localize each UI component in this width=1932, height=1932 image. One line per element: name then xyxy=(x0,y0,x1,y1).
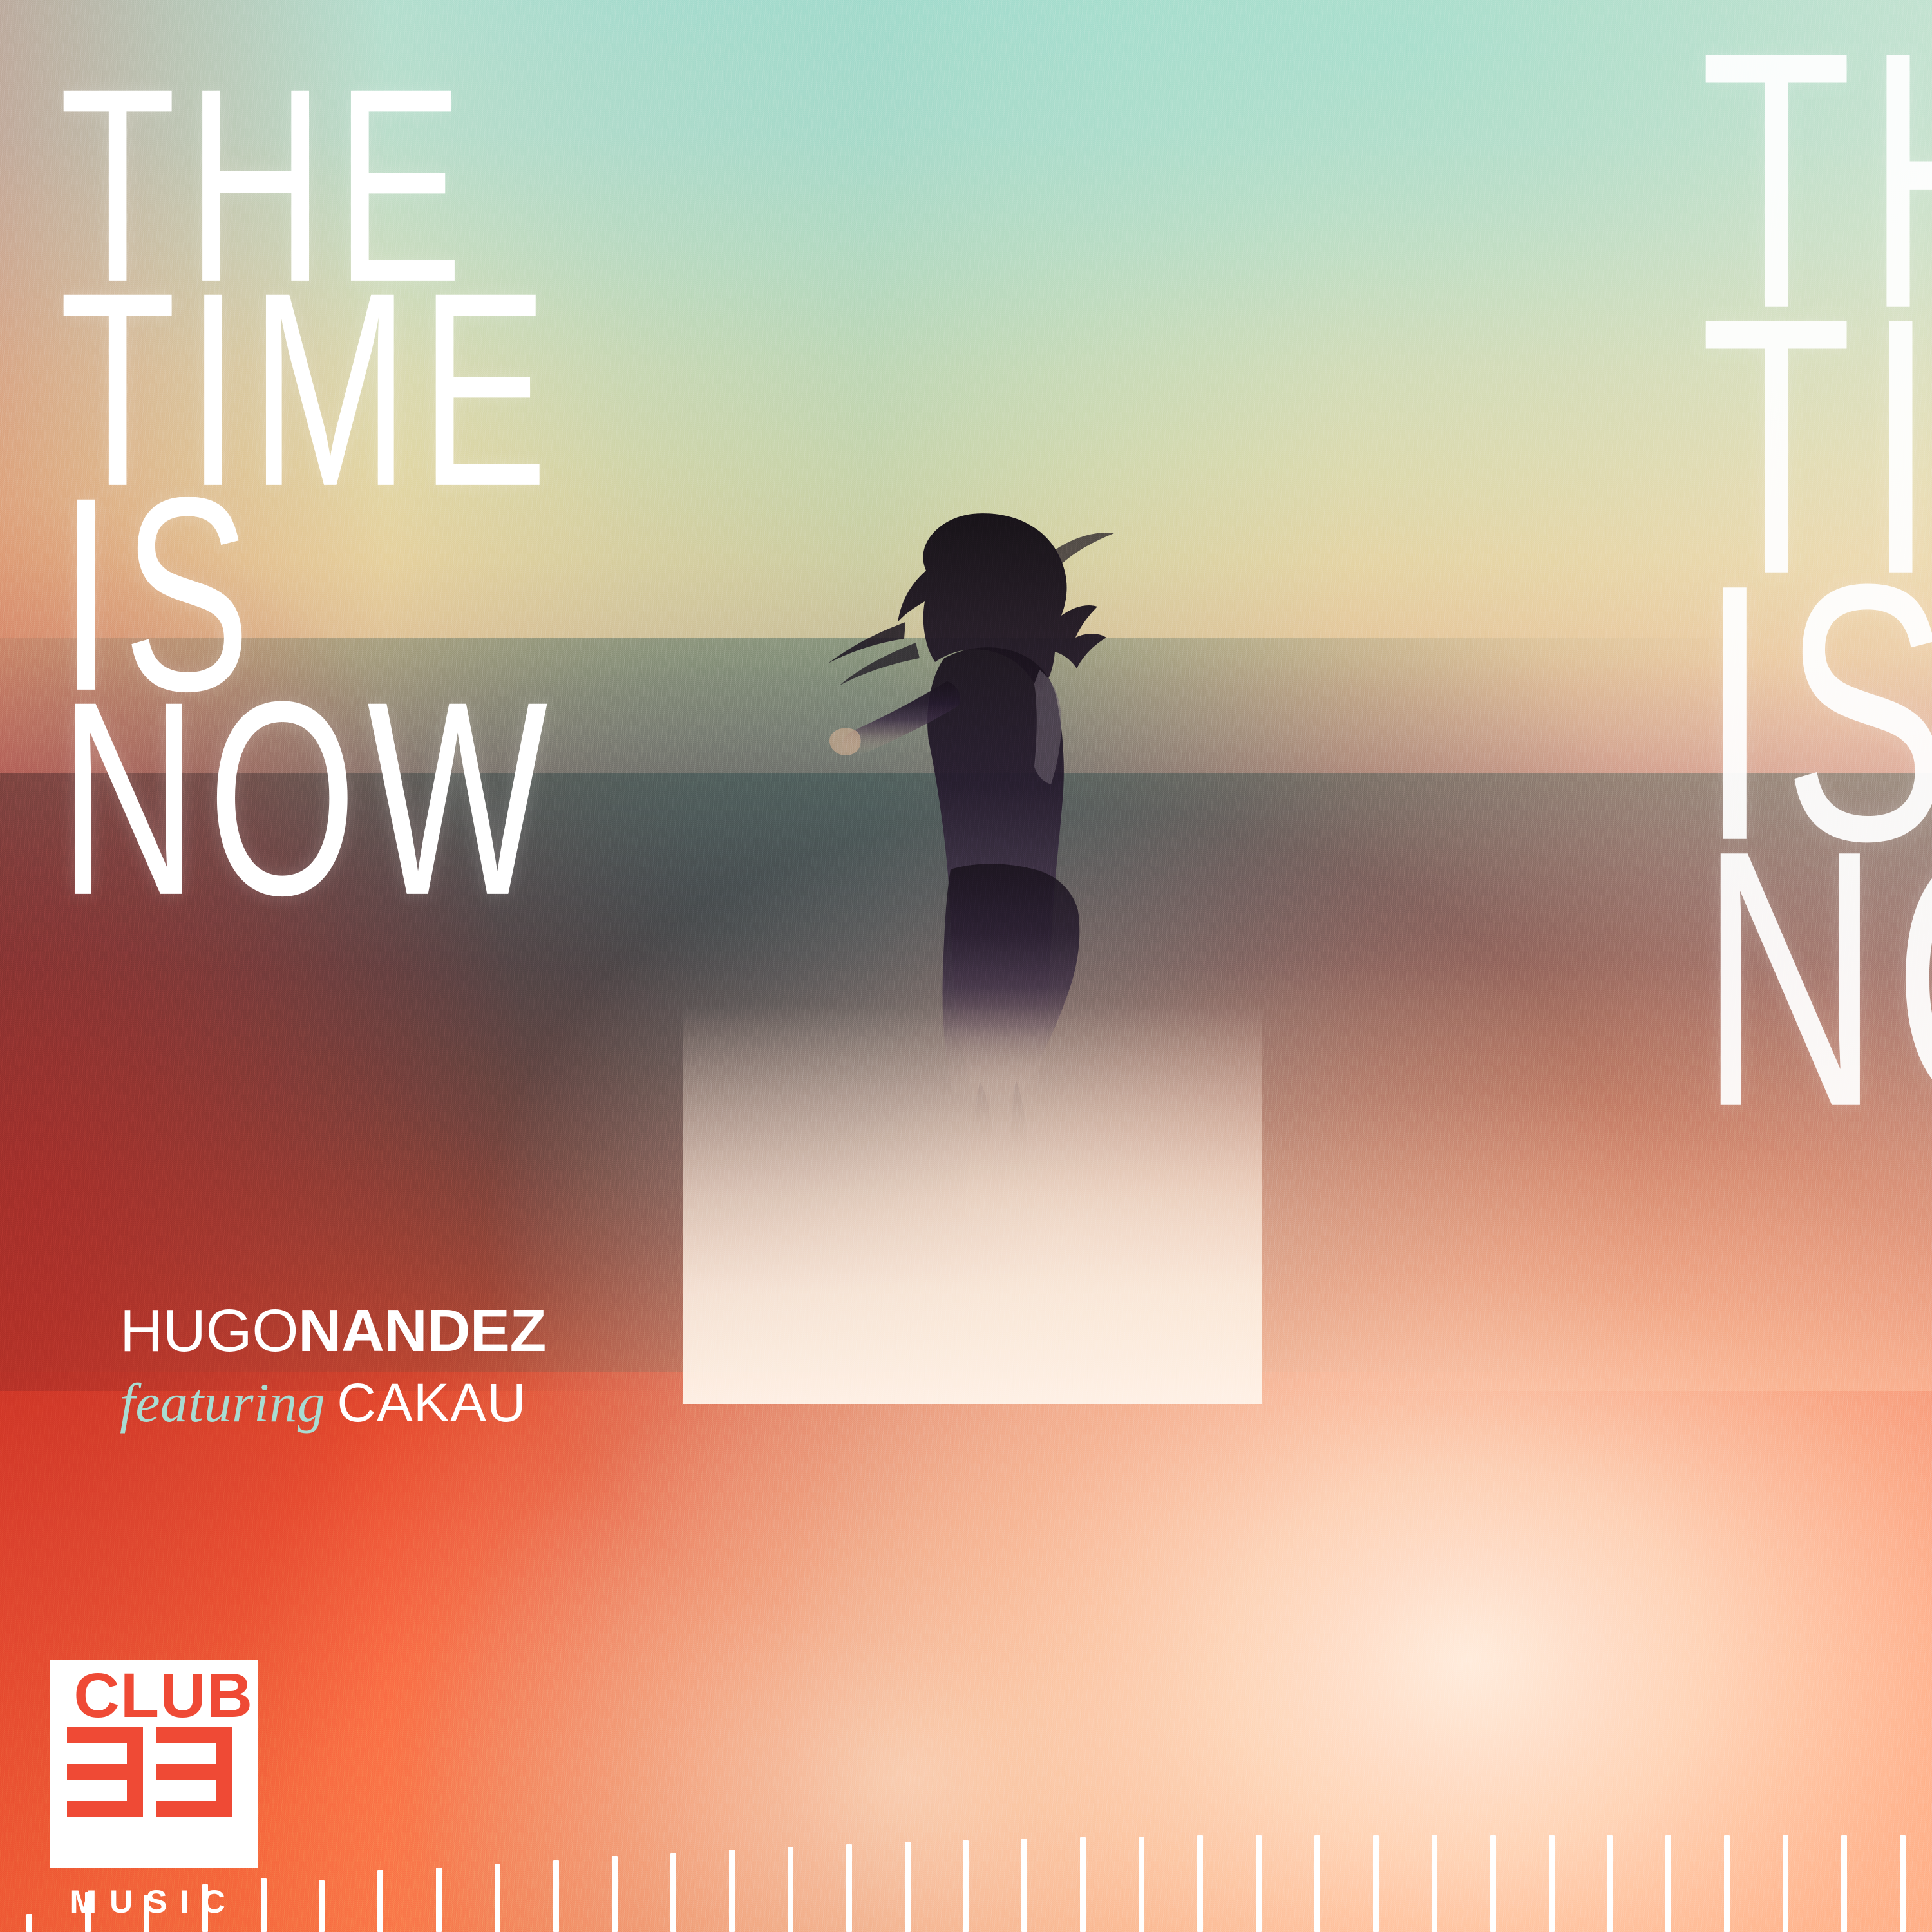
album-cover: THE TIME IS NOW THE TIME IS NOW HUGONAND… xyxy=(0,0,1932,1932)
artist-credit: HUGONANDEZ featuringCAKAU xyxy=(120,1301,546,1430)
record-label-logo[interactable]: CLUB xyxy=(50,1660,258,1920)
artist-first-name: HUGO xyxy=(120,1297,298,1364)
label-logo-club-text: CLUB xyxy=(48,1664,253,1727)
album-title: THE TIME IS NOW xyxy=(59,77,614,857)
label-logo-tagline: MUSIC xyxy=(50,1883,258,1920)
featuring-label: featuring xyxy=(120,1372,325,1434)
title-line-now: NOW xyxy=(59,690,558,906)
ghost-title-line-4: NOW xyxy=(1700,837,1932,1122)
ghost-title: THE TIME IS NOW xyxy=(1700,39,1932,1054)
label-logo-33-mark xyxy=(67,1727,241,1817)
featuring-line: featuringCAKAU xyxy=(120,1375,546,1430)
featuring-artist: CAKAU xyxy=(337,1372,526,1433)
label-logo-square: CLUB xyxy=(50,1660,258,1868)
artist-name: HUGONANDEZ xyxy=(120,1301,546,1361)
artist-last-name: NANDEZ xyxy=(298,1297,546,1364)
